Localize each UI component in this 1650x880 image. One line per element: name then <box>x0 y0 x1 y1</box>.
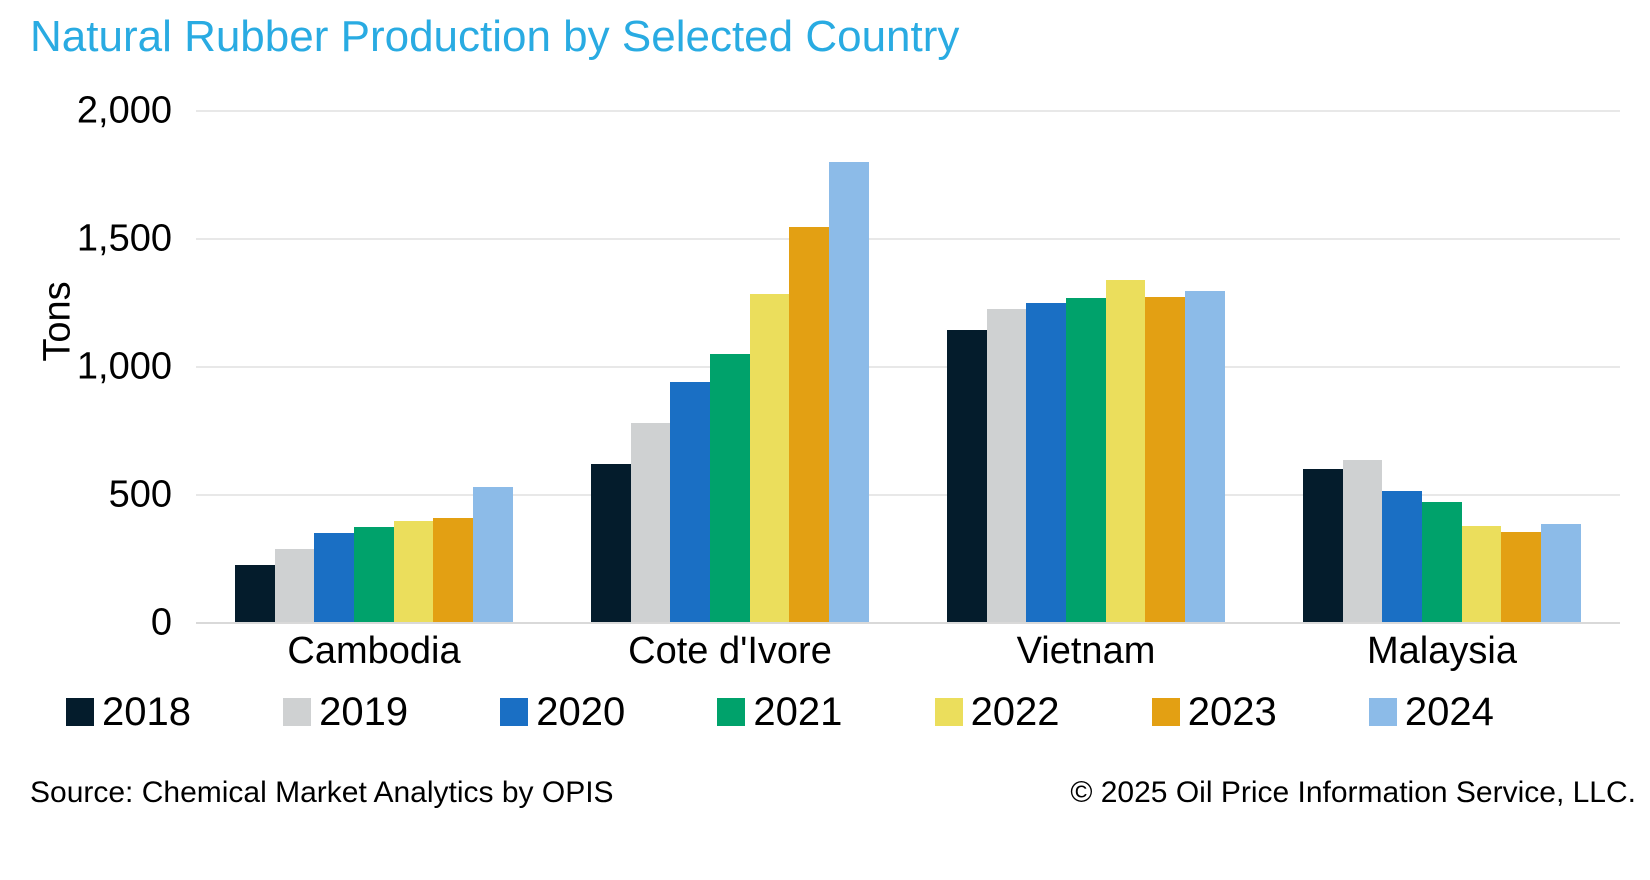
bar[interactable] <box>394 521 434 623</box>
bar[interactable] <box>354 527 394 623</box>
legend: 2018201920202021202220232024 <box>66 683 1586 741</box>
bar[interactable] <box>1106 280 1146 623</box>
bar[interactable] <box>1462 526 1502 623</box>
legend-label: 2018 <box>102 692 191 732</box>
legend-swatch-icon <box>66 698 94 726</box>
bar[interactable] <box>1501 532 1541 623</box>
bar[interactable] <box>1066 298 1106 623</box>
bar[interactable] <box>275 549 315 623</box>
bar[interactable] <box>1541 524 1581 623</box>
bar-group <box>1303 111 1581 623</box>
category-label: Vietnam <box>1017 630 1156 673</box>
footer-source: Source: Chemical Market Analytics by OPI… <box>30 776 614 810</box>
legend-swatch-icon <box>283 698 311 726</box>
bar[interactable] <box>1343 460 1383 623</box>
legend-label: 2023 <box>1188 692 1277 732</box>
category-label: Cote d'Ivore <box>628 630 832 673</box>
bar[interactable] <box>1422 502 1462 623</box>
y-tick-label: 1,500 <box>77 218 172 261</box>
bar-group <box>235 111 513 623</box>
legend-item[interactable]: 2022 <box>935 692 1152 732</box>
bar[interactable] <box>947 330 987 623</box>
legend-swatch-icon <box>500 698 528 726</box>
bar[interactable] <box>314 533 354 623</box>
y-tick-label: 1,000 <box>77 346 172 389</box>
legend-swatch-icon <box>1152 698 1180 726</box>
bar-group <box>947 111 1225 623</box>
bar[interactable] <box>631 423 671 623</box>
legend-swatch-icon <box>1369 698 1397 726</box>
bar[interactable] <box>670 382 710 623</box>
legend-swatch-icon <box>717 698 745 726</box>
bar-group <box>591 111 869 623</box>
legend-label: 2020 <box>536 692 625 732</box>
category-label: Malaysia <box>1367 630 1517 673</box>
y-axis: 05001,0001,5002,000 <box>0 0 178 880</box>
bar[interactable] <box>1145 297 1185 623</box>
category-label: Cambodia <box>287 630 460 673</box>
legend-item[interactable]: 2020 <box>500 692 717 732</box>
bar[interactable] <box>1303 469 1343 623</box>
bar[interactable] <box>789 227 829 623</box>
y-tick-label: 0 <box>151 602 172 645</box>
bar[interactable] <box>1382 491 1422 623</box>
y-tick-label: 500 <box>109 474 172 517</box>
bar[interactable] <box>1185 291 1225 623</box>
bar[interactable] <box>829 162 869 623</box>
legend-label: 2019 <box>319 692 408 732</box>
bar[interactable] <box>235 565 275 623</box>
legend-label: 2024 <box>1405 692 1494 732</box>
legend-label: 2022 <box>971 692 1060 732</box>
legend-item[interactable]: 2023 <box>1152 692 1369 732</box>
x-axis-baseline <box>196 622 1620 624</box>
bar[interactable] <box>591 464 631 623</box>
legend-item[interactable]: 2021 <box>717 692 934 732</box>
bar[interactable] <box>710 354 750 623</box>
legend-item[interactable]: 2019 <box>283 692 500 732</box>
y-axis-title: Tons <box>37 242 80 402</box>
bar[interactable] <box>433 518 473 623</box>
legend-swatch-icon <box>935 698 963 726</box>
legend-label: 2021 <box>753 692 842 732</box>
bar[interactable] <box>1026 303 1066 623</box>
legend-item[interactable]: 2018 <box>66 692 283 732</box>
plot-area <box>196 111 1620 623</box>
y-tick-label: 2,000 <box>77 90 172 133</box>
bar[interactable] <box>473 487 513 623</box>
footer-copyright: © 2025 Oil Price Information Service, LL… <box>1070 776 1636 810</box>
bar[interactable] <box>750 294 790 623</box>
bar[interactable] <box>987 309 1027 623</box>
legend-item[interactable]: 2024 <box>1369 692 1586 732</box>
